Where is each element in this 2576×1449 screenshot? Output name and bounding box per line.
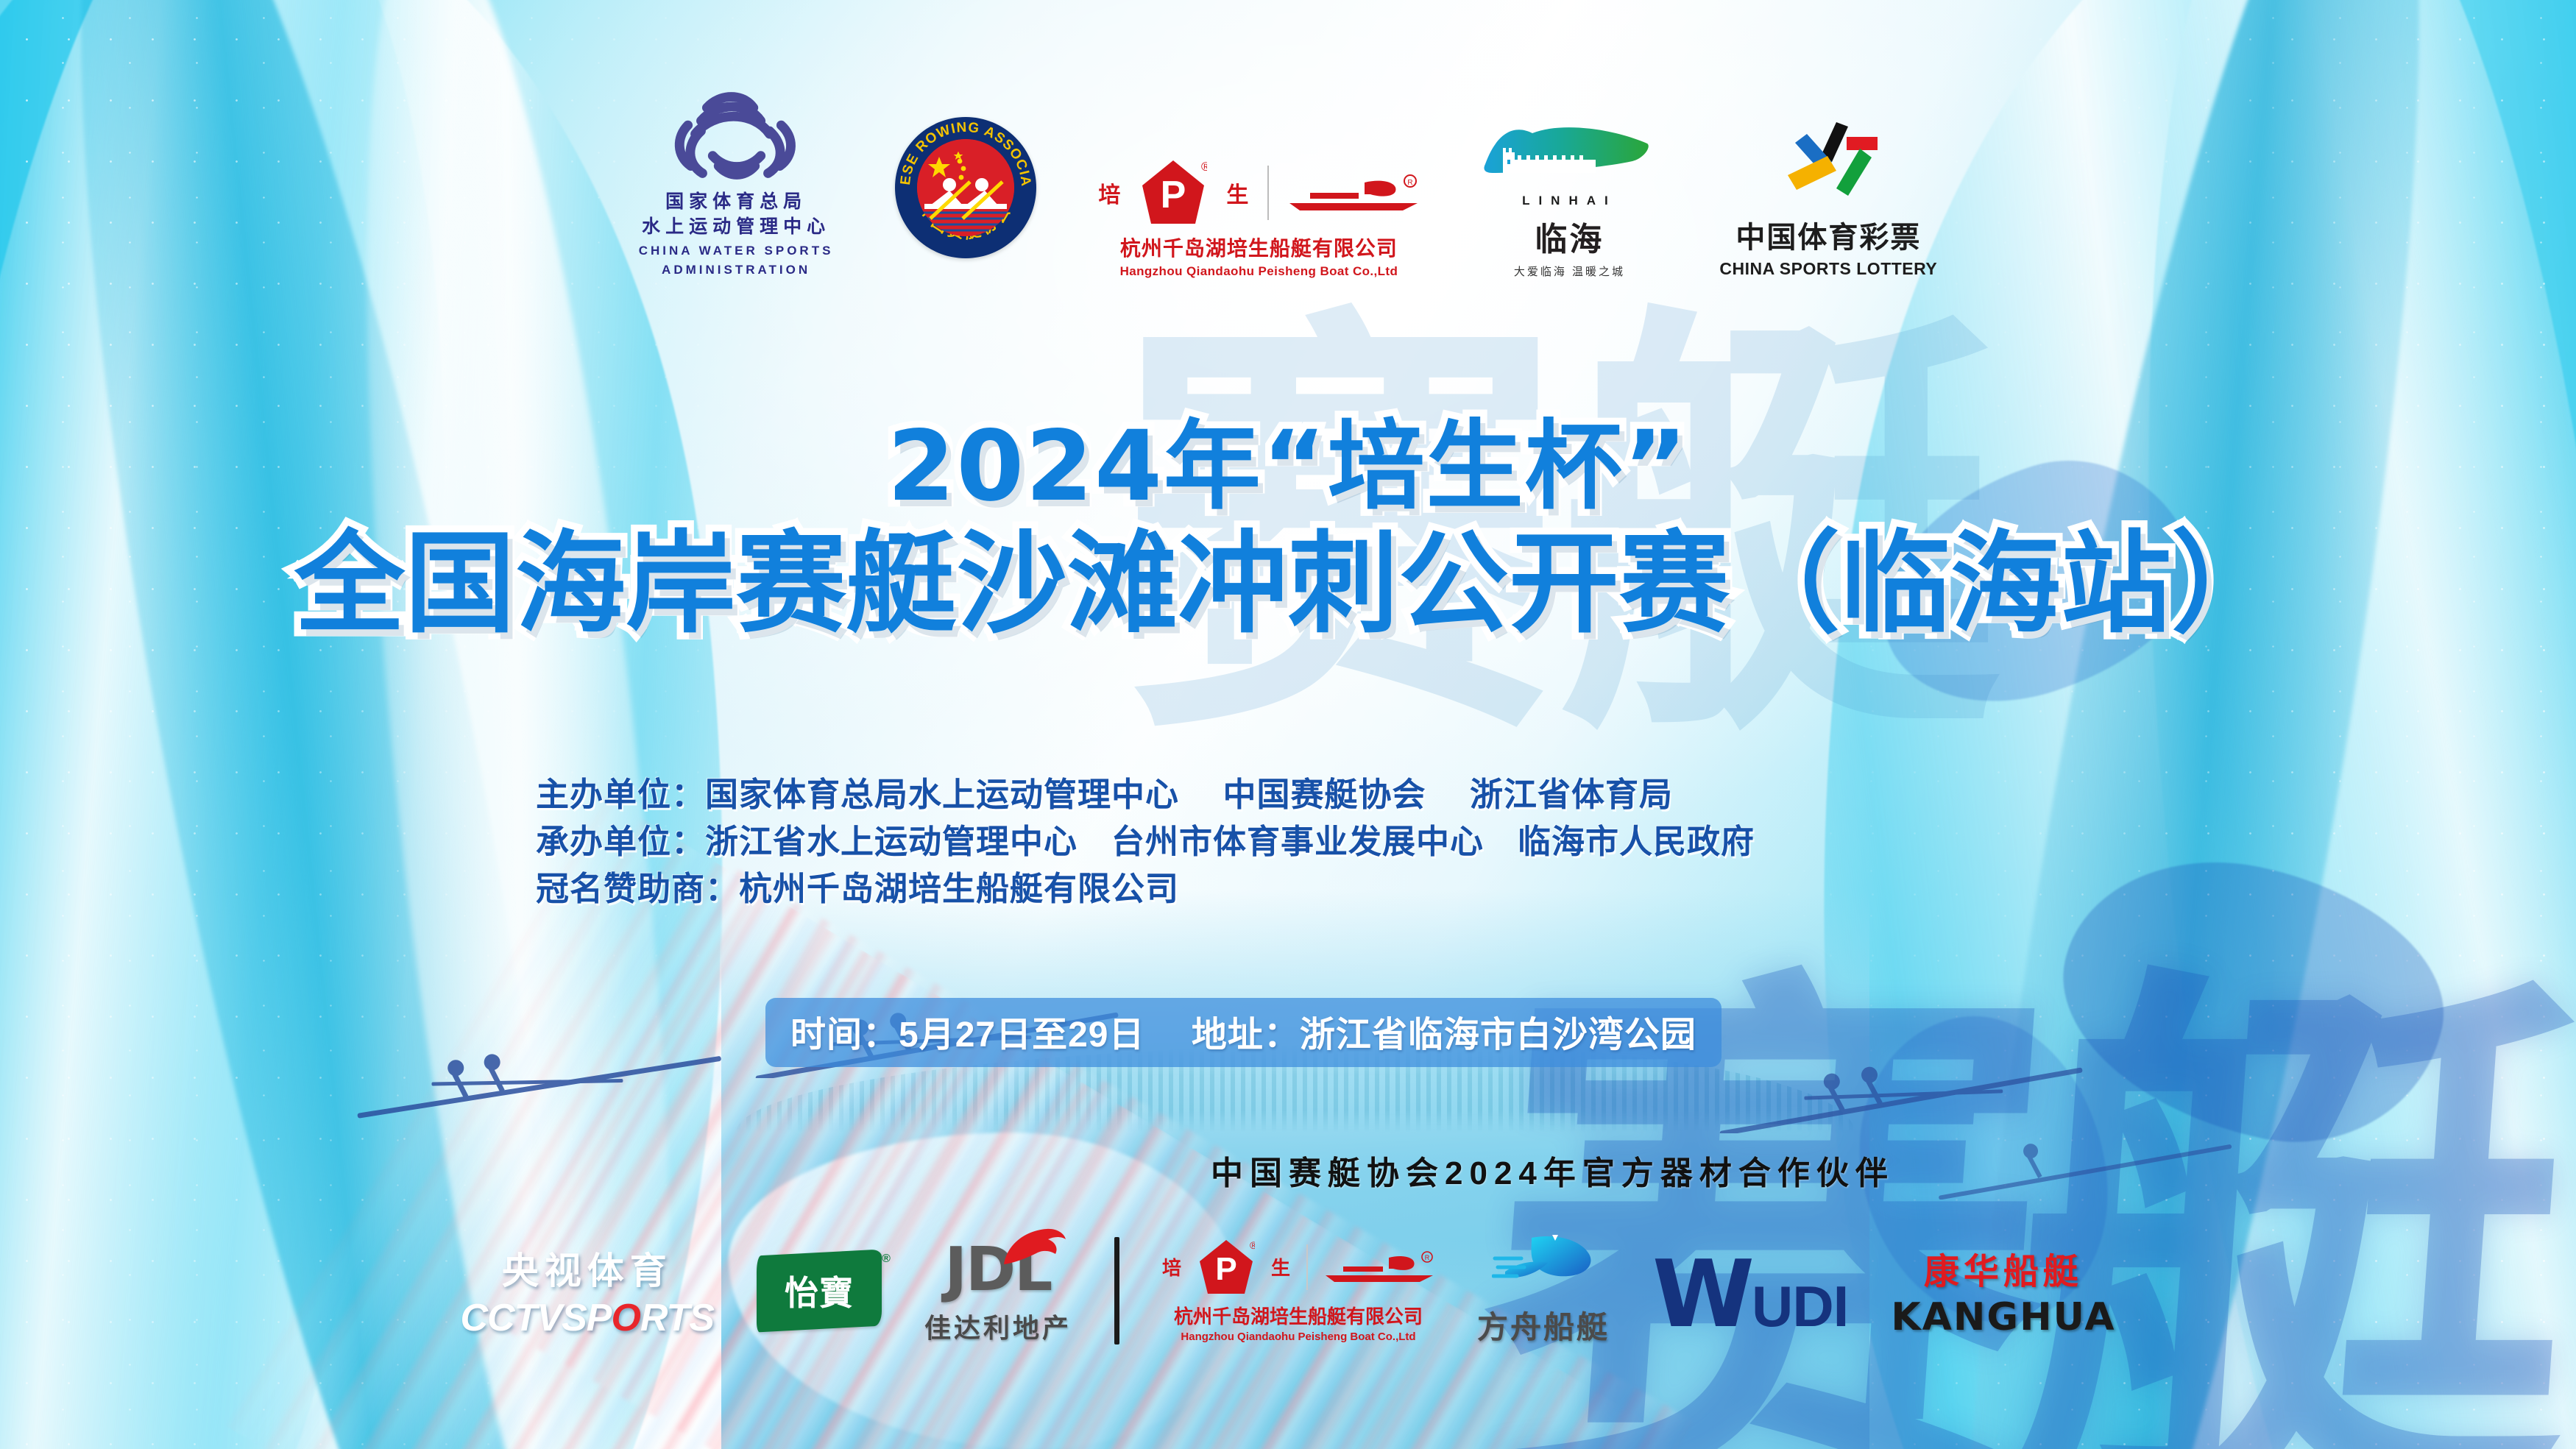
peisheng-cn-name-bottom: 杭州千岛湖培生船艇有限公司	[1174, 1302, 1423, 1329]
linhai-brush-wall-icon	[1481, 118, 1657, 189]
linhai-slogan: 大爱临海 温暖之城	[1514, 263, 1625, 279]
peisheng-en-name-bottom: Hangzhou Qiandaohu Peisheng Boat Co.,Ltd	[1181, 1331, 1415, 1343]
cctv-en-part2: SP	[562, 1296, 611, 1340]
cra-badge: CHINESE ROWING ASSOCIATION 中国赛艇协会	[895, 117, 1036, 258]
peisheng-mark-left-char: 培	[1098, 177, 1120, 209]
wudi-letters-udi: UDI	[1752, 1282, 1848, 1331]
schedule-text: 时间：5月27日至29日 地址：浙江省临海市白沙湾公园	[790, 1005, 1696, 1057]
logo-chinese-rowing-association[interactable]: CHINESE ROWING ASSOCIATION 中国赛艇协会	[895, 117, 1036, 258]
sponsor-divider	[1114, 1237, 1119, 1345]
yibao-flag-shape: 怡寶	[757, 1249, 882, 1332]
cwsa-en-line1: CHINA WATER SPORTS	[639, 243, 834, 260]
cctv-en-part4: RTS	[640, 1296, 714, 1340]
top-sponsor-logo-bar: 国家体育总局 水上运动管理中心 CHINA WATER SPORTS ADMIN…	[0, 79, 2576, 279]
title-line-1: 2024年“培生杯”	[0, 416, 2576, 519]
peisheng-divider-bottom	[1306, 1244, 1308, 1290]
cwsa-cn-line2: 水上运动管理中心	[642, 215, 830, 240]
peisheng-mark-row: 培 P ® 生 R	[1098, 159, 1419, 227]
svg-text:P: P	[1215, 1251, 1236, 1287]
linhai-en-label: LINHAI	[1522, 194, 1617, 208]
svg-text:P: P	[1161, 174, 1186, 216]
lottery-cn-label: 中国体育彩票	[1735, 213, 1921, 256]
logo-china-water-sports-administration[interactable]: 国家体育总局 水上运动管理中心 CHINA WATER SPORTS ADMIN…	[639, 79, 834, 279]
peisheng-mark-right-char: 生	[1226, 177, 1248, 209]
logo-jdl-jiadali[interactable]: JDL 佳达利地产	[924, 1236, 1072, 1345]
logo-linhai-city[interactable]: LINHAI 临海 大爱临海 温暖之城	[1481, 118, 1657, 279]
peisheng-mark-right-char-bottom: 生	[1271, 1253, 1290, 1280]
logo-china-sports-lottery[interactable]: 中国体育彩票 CHINA SPORTS LOTTERY	[1719, 121, 1937, 279]
svg-text:®: ®	[1201, 160, 1207, 174]
sports-lottery-pinwheel-icon	[1777, 121, 1879, 206]
kanghua-en-label: KANGHUA	[1891, 1295, 2115, 1339]
peisheng-mark-row-bottom: 培 P ® 生 R	[1162, 1239, 1434, 1296]
svg-text:®: ®	[1250, 1239, 1255, 1251]
event-poster: 赛艇 赛艇	[0, 0, 2576, 1449]
title-line-2: 全国海岸赛艇沙滩冲刺公开赛（临海站）	[0, 526, 2576, 643]
svg-text:R: R	[1408, 179, 1413, 187]
dolphin-icon	[999, 1226, 1067, 1273]
logo-peisheng-boat-bottom[interactable]: 培 P ® 生 R	[1162, 1239, 1434, 1343]
organizer-line-host: 主办单位：国家体育总局水上运动管理中心 中国赛艇协会 浙江省体育局	[536, 771, 1755, 818]
yibao-cn-label: 怡寶	[785, 1266, 854, 1315]
event-title: 2024年“培生杯” 全国海岸赛艇沙滩冲刺公开赛（临海站）	[0, 416, 2576, 643]
cwsa-cn-line1: 国家体育总局	[665, 190, 807, 215]
peisheng-en-name-top: Hangzhou Qiandaohu Peisheng Boat Co.,Ltd	[1120, 264, 1398, 279]
logo-fangzhou-boat[interactable]: 方舟船艇	[1477, 1233, 1610, 1347]
fangzhou-wave-boat-icon	[1492, 1233, 1595, 1297]
fangzhou-cn-label: 方舟船艇	[1477, 1303, 1610, 1347]
cra-flag-emblem	[917, 139, 1014, 236]
schedule-banner: 时间：5月27日至29日 地址：浙江省临海市白沙湾公园	[765, 998, 1722, 1067]
cctv-en-part1: CCTV	[461, 1296, 562, 1340]
svg-text:R: R	[1425, 1254, 1430, 1261]
peisheng-pentagon-icon: P ®	[1139, 159, 1207, 227]
cctv-en-wordmark: CCTV SP O RTS	[461, 1296, 714, 1340]
kanghua-cn-label: 康华船艇	[1924, 1242, 2083, 1294]
logo-cctv-sports[interactable]: 央视体育 CCTV SP O RTS	[461, 1241, 714, 1340]
lottery-en-label: CHINA SPORTS LOTTERY	[1719, 259, 1937, 279]
organizer-line-sponsor: 冠名赞助商：杭州千岛湖培生船艇有限公司	[536, 865, 1755, 913]
logo-yibao[interactable]: 怡寶 ®	[757, 1253, 882, 1329]
logo-kanghua-boat[interactable]: 康华船艇 KANGHUA	[1891, 1242, 2115, 1339]
partner-heading: 中国赛艇协会2024年官方器材合作伙伴	[1211, 1147, 1894, 1194]
wudi-letter-w: W	[1652, 1258, 1747, 1331]
cctv-cn-label: 央视体育	[502, 1241, 673, 1294]
jdl-wordmark-row: JDL	[945, 1236, 1052, 1304]
organizer-line-organizer: 承办单位：浙江省水上运动管理中心 台州市体育事业发展中心 临海市人民政府	[536, 818, 1755, 865]
cwsa-en-line2: ADMINISTRATION	[662, 262, 810, 279]
yibao-registered-mark: ®	[882, 1253, 891, 1266]
cctv-en-part3: O	[611, 1296, 640, 1340]
peisheng-cn-name-top: 杭州千岛湖培生船艇有限公司	[1120, 233, 1398, 262]
organizer-block: 主办单位：国家体育总局水上运动管理中心 中国赛艇协会 浙江省体育局 承办单位：浙…	[536, 771, 1755, 913]
peisheng-divider	[1267, 166, 1269, 220]
peisheng-boat-icon-bottom: R	[1324, 1250, 1434, 1284]
peisheng-pentagon-icon-bottom: P ®	[1197, 1239, 1255, 1296]
linhai-cn-label: 临海	[1535, 213, 1604, 260]
water-swirl-icon	[663, 79, 809, 190]
logo-peisheng-boat-top[interactable]: 培 P ® 生 R	[1098, 159, 1419, 279]
bottom-sponsor-row: 央视体育 CCTV SP O RTS 怡寶 ® JDL	[0, 1233, 2576, 1347]
jdl-cn-label: 佳达利地产	[924, 1307, 1072, 1345]
peisheng-boat-icon: R	[1288, 172, 1419, 213]
peisheng-mark-left-char-bottom: 培	[1162, 1253, 1181, 1280]
logo-wudi[interactable]: W UDI	[1652, 1250, 1848, 1331]
wudi-wordmark: W UDI	[1652, 1250, 1848, 1331]
